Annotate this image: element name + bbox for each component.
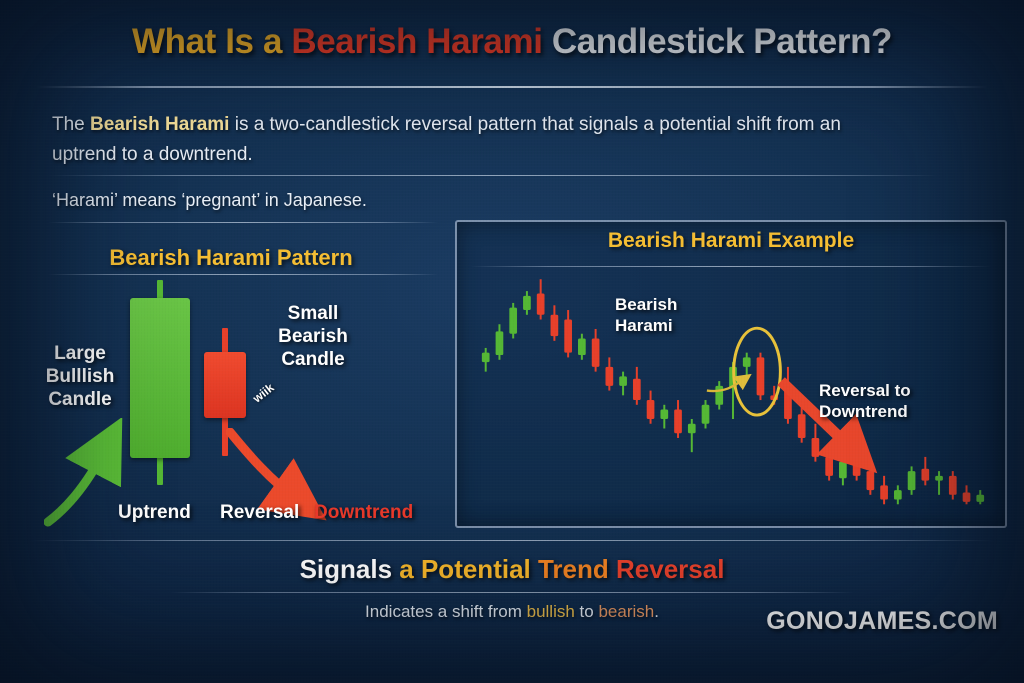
uptrend-label: Uptrend [118, 502, 191, 524]
pattern-diagram: Large Bulllish Candle Small Bearish Cand… [30, 280, 440, 540]
candle-bearish [825, 457, 833, 476]
harami-meaning-note: ‘Harami’ means ‘pregnant’ in Japanese. [52, 190, 752, 211]
divider-under-pattern-title [48, 274, 438, 275]
wick-label: wiik [250, 381, 276, 406]
divider-under-title [36, 86, 988, 88]
footer-headline-potential: a Potential [399, 554, 538, 584]
candle-bullish [976, 495, 984, 502]
candle-bearish [647, 400, 655, 419]
page-title: What Is a Bearish Harami Candlestick Pat… [0, 22, 1024, 62]
title-segment-white: Candlestick Pattern? [543, 22, 892, 61]
candle-bullish [715, 386, 723, 405]
candle-bearish [757, 357, 765, 395]
candle-bullish [688, 424, 696, 433]
title-segment-gold: What Is a [132, 22, 291, 61]
candle-bearish [853, 457, 861, 476]
footer-headline-reversal: Reversal [616, 554, 724, 584]
footer-headline-trend: Trend [538, 554, 616, 584]
candle-bullish [660, 410, 668, 419]
candle-bullish [619, 376, 627, 385]
candle-bearish [551, 315, 559, 336]
candle-bearish [963, 492, 971, 501]
candle-bearish [949, 476, 957, 495]
candle-bearish [564, 320, 572, 353]
candle-bullish [482, 353, 490, 362]
intro-term: Bearish Harami [90, 114, 229, 135]
footer-sub-c: . [654, 602, 659, 621]
candle-bullish [743, 357, 751, 366]
candle-bearish [812, 438, 820, 457]
footer-sub-bullish: bullish [527, 602, 575, 621]
downtrend-label: Downtrend [314, 502, 413, 524]
bearish-candle-body [204, 352, 246, 418]
pattern-section-title: Bearish Harami Pattern [40, 245, 422, 271]
site-watermark: GONOJAMES.COM [766, 607, 998, 636]
candle-bullish [894, 490, 902, 499]
candle-wick [938, 471, 940, 495]
candle-bearish [867, 471, 875, 490]
footer-sub-b: to [575, 602, 599, 621]
candlestick-chart [457, 222, 1005, 526]
title-segment-red: Bearish Harami [291, 22, 542, 61]
candle-bullish [523, 296, 531, 310]
candle-bullish [578, 338, 586, 355]
infographic-canvas: What Is a Bearish Harami Candlestick Pat… [0, 0, 1024, 683]
candle-bearish [798, 414, 806, 438]
candle-bearish [633, 379, 641, 400]
small-bearish-candle-label: Small Bearish Candle [248, 302, 378, 371]
reversal-downtrend-annotation: Reversal to Downtrend [819, 380, 911, 422]
footer-sub-bearish: bearish [598, 602, 654, 621]
harami-pointer-arrow [707, 379, 745, 391]
candle-bearish [674, 410, 682, 434]
candle-bearish [592, 338, 600, 366]
candle-bullish [496, 331, 504, 355]
candle-bullish [702, 405, 710, 424]
intro-paragraph: The Bearish Harami is a two-candlestick … [52, 110, 882, 170]
candle-bullish [509, 308, 517, 334]
footer-sub-a: Indicates a shift from [365, 602, 527, 621]
intro-lead: The [52, 114, 90, 135]
candle-bullish [839, 462, 847, 479]
footer-headline-signals: Signals [300, 554, 400, 584]
candle-bullish [935, 476, 943, 481]
bearish-harami-annotation: Bearish Harami [615, 294, 677, 336]
divider-under-example-title [470, 266, 992, 267]
divider-above-footer [30, 540, 994, 541]
candle-bearish [537, 293, 545, 314]
candle-bearish [880, 485, 888, 499]
divider-above-pattern-title [48, 222, 438, 223]
reversal-label: Reversal [220, 502, 299, 524]
divider-under-intro [48, 175, 938, 176]
large-bullish-candle-label: Large Bulllish Candle [26, 342, 134, 411]
candle-bullish [908, 471, 916, 490]
divider-under-footer-headline [170, 592, 854, 593]
candle-bearish [921, 469, 929, 481]
candle-bearish [606, 367, 614, 386]
footer-headline: Signals a Potential Trend Reversal [0, 554, 1024, 585]
example-section-title: Bearish Harami Example [458, 229, 1004, 253]
